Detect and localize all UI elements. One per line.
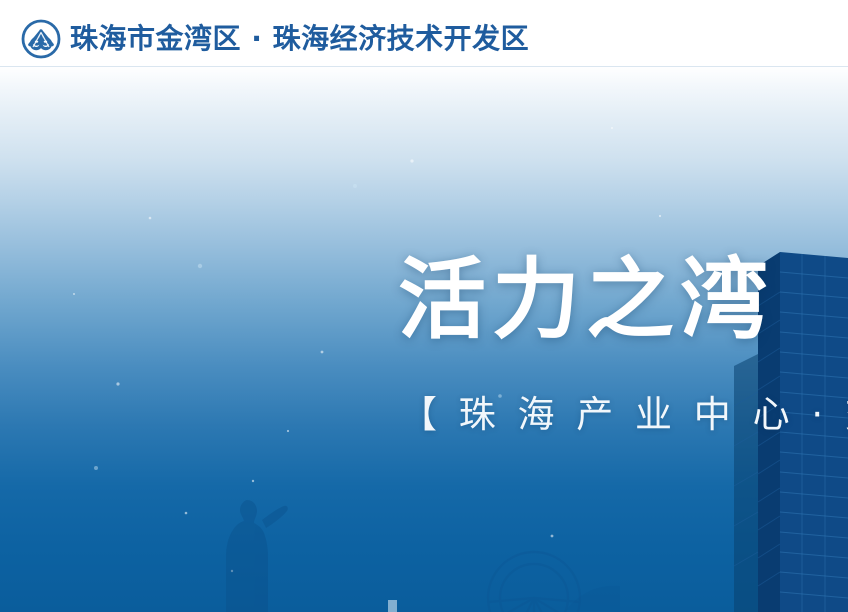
brand-lockup[interactable]: 珠海市金湾区 · 珠海经济技术开发区	[21, 19, 529, 59]
hero-headline: 活力之湾	[398, 256, 774, 344]
hero-banner: 活力之湾 【 珠 海 产 业 中 心 · 交 通	[0, 66, 848, 612]
site-header: 珠海市金湾区 · 珠海经济技术开发区	[0, 0, 848, 66]
brand-title: 珠海市金湾区 · 珠海经济技术开发区	[70, 25, 529, 53]
header-divider	[0, 66, 848, 67]
page-root: 珠海市金湾区 · 珠海经济技术开发区	[0, 0, 848, 612]
hero-copy: 活力之湾 【 珠 海 产 业 中 心 · 交 通	[0, 66, 848, 612]
circular-wave-emblem-icon	[21, 19, 61, 59]
hero-subline: 【 珠 海 产 业 中 心 · 交 通	[400, 396, 848, 433]
skyscraper-silhouette	[728, 66, 848, 612]
ground-silhouette-overlay	[0, 482, 848, 612]
particle-overlay	[0, 66, 848, 612]
